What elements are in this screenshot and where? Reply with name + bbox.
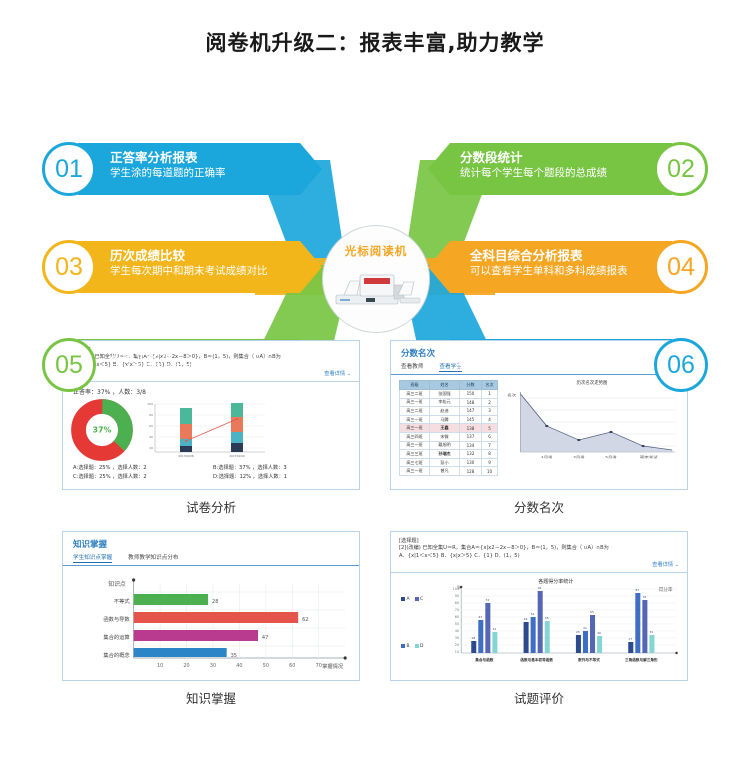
- feature-number-03: 03: [42, 240, 96, 294]
- feature-sub-03: 学生每次期中和期末考试成绩对比: [110, 264, 268, 279]
- svg-text:40: 40: [236, 663, 242, 669]
- svg-text:31: 31: [583, 626, 587, 630]
- question-line-2: [2](改编) 已知全集U＝R，集合A＝{x|x2－2x－8＞0}，B＝(1，5…: [399, 545, 679, 553]
- table-cell: 戴旭明: [430, 441, 460, 450]
- table-cell: 128: [460, 467, 482, 476]
- svg-text:55: 55: [590, 610, 594, 614]
- svg-text:10: 10: [157, 663, 163, 669]
- table-row[interactable]: 高三二班张国强1501: [400, 390, 498, 399]
- col-score: 分数: [460, 381, 482, 390]
- panel-shitipingjia: [选择题] [2](改编) 已知全集U＝R，集合A＝{x|x2－2x－8＞0}，…: [390, 531, 688, 681]
- feature-text-04: 全科目综合分析报表 可以查看学生单科和多科成绩报表: [470, 248, 628, 279]
- feature-text-06: 可以查看原始填涂答案报表 可以查看学生最开始填涂的答案是什么: [455, 346, 634, 377]
- table-cell: 曾凡: [430, 467, 460, 476]
- panel3-body: 知识点: [63, 566, 359, 678]
- table-row[interactable]: 高三四班宋微1376: [400, 432, 498, 441]
- table-cell: 彭小: [430, 458, 460, 467]
- feature-text-03: 历次成绩比较 学生每次期中和期末考试成绩对比: [110, 248, 268, 279]
- svg-text:30: 30: [210, 663, 216, 669]
- svg-text:30: 30: [598, 631, 602, 635]
- feature-diagram: 01 正答率分析报表 学生涂的每道题的正确率 02 分数段统计 统计每个学生每个…: [0, 65, 750, 340]
- svg-text:集合的运算: 集合的运算: [103, 633, 130, 641]
- report-screenshots: [选择题] [2](改编) 已知全集U＝R，集合A＝{x|x2－2x－8＞0}，…: [0, 340, 750, 716]
- swatch-a: [401, 597, 405, 601]
- svg-text:91: 91: [538, 586, 542, 590]
- svg-text:3月考: 3月考: [573, 455, 585, 459]
- svg-text:5月考: 5月考: [605, 455, 617, 459]
- svg-text:60: 60: [149, 424, 153, 428]
- feature-number-05: 05: [42, 338, 96, 392]
- score-rank-table: 班级 姓名 分数 名次 高三二班张国强1501高三一班李松元1482高三二班赵迪…: [399, 380, 498, 476]
- scanner-icon: [330, 265, 422, 311]
- table-row[interactable]: 高三一班曾凡12810: [400, 467, 498, 476]
- svg-text:44: 44: [524, 617, 528, 621]
- table-cell: 宋微: [430, 432, 460, 441]
- table-cell: 马腾: [430, 415, 460, 424]
- option-legend: A:选择题：25% ，选择人数：2 B:选择题：37% ，选择人数：3 C:选择…: [63, 462, 359, 480]
- table-cell: 孙瑞杰: [430, 450, 460, 459]
- svg-text:100: 100: [147, 402, 153, 406]
- svg-text:87: 87: [636, 588, 640, 592]
- panel-caption-shitipingjia: 试题评价: [390, 681, 688, 716]
- section-tabs-zhishizhangwo: 学生知识点掌握 教师教学知识点分布: [63, 553, 359, 566]
- table-cell: 2: [482, 398, 498, 407]
- swatch-d: [415, 644, 419, 648]
- legend-series-a: A: [401, 578, 410, 620]
- panel-caption-shijuanfenxi: 试卷分析: [62, 490, 360, 525]
- feature-title-05: 班级平均分: [110, 346, 257, 362]
- feature-number-02: 02: [654, 142, 708, 196]
- table-cell: 147: [460, 407, 482, 416]
- table-cell: 高三四班: [400, 432, 430, 441]
- legend-series-c: C: [415, 578, 424, 620]
- svg-text:1月考: 1月考: [541, 455, 553, 459]
- svg-text:函数与基本初等函数: 函数与基本初等函数: [521, 657, 554, 662]
- svg-text:50: 50: [455, 622, 459, 626]
- feature-text-01: 正答率分析报表 学生涂的每道题的正确率: [110, 150, 226, 181]
- feature-title-04: 全科目综合分析报表: [470, 248, 628, 264]
- table-cell: 高三一班: [400, 467, 430, 476]
- feature-number-06: 06: [654, 338, 708, 392]
- question-tag-2: [选择题]: [399, 538, 679, 545]
- legend-item-b: B:选择题：37% ，选择人数：3: [213, 464, 349, 471]
- swatch-c: [415, 597, 419, 601]
- panel4-body: A C B D 各题得分率统计: [391, 573, 687, 667]
- table-cell: 134: [460, 441, 482, 450]
- table-header-row: 班级 姓名 分数 名次: [400, 381, 498, 390]
- table-cell: 高三二班: [400, 390, 430, 399]
- svg-text:60: 60: [289, 663, 295, 669]
- table-cell: 高三三班: [400, 450, 430, 459]
- svg-text:31: 31: [493, 627, 497, 631]
- table-cell: 赵迪: [430, 407, 460, 416]
- svg-text:17: 17: [629, 637, 633, 641]
- legend-series-b: B: [401, 625, 410, 667]
- svg-text:100: 100: [453, 587, 460, 591]
- col-name: 姓名: [430, 381, 460, 390]
- table-cell: 132: [460, 450, 482, 459]
- donut-center-label: 37%: [92, 426, 111, 435]
- svg-text:90: 90: [455, 594, 459, 598]
- grouped-bar-chart-item-eval: 各题得分率统计 得分率 %: [435, 575, 683, 667]
- table-cell: 130: [460, 458, 482, 467]
- svg-text:集合与函数: 集合与函数: [475, 657, 495, 662]
- svg-text:76: 76: [643, 595, 647, 599]
- panel-caption-zhishizhangwo: 知识掌握: [62, 681, 360, 716]
- table-cell: 5: [482, 424, 498, 433]
- table-row[interactable]: 高三一班李松元1482: [400, 398, 498, 407]
- svg-text:20: 20: [455, 643, 459, 647]
- table-cell: 张国强: [430, 390, 460, 399]
- svg-text:不等式: 不等式: [114, 597, 130, 605]
- stacked-bar-chart: 100 80 60 40 20: [139, 398, 271, 462]
- table-row[interactable]: 高三三班孙瑞杰1328: [400, 450, 498, 459]
- table-cell: 4: [482, 415, 498, 424]
- legend-label-a: A: [407, 597, 410, 602]
- panel-caption-fenshumingci: 分数名次: [390, 490, 688, 525]
- horizontal-bar-chart-knowledge: 知识点: [69, 570, 353, 674]
- legend-label-b: B: [407, 644, 410, 649]
- legend-label-c: C: [420, 597, 423, 602]
- tab-teacher-knowledge[interactable]: 教师教学知识点分布: [128, 553, 178, 563]
- panel-wrap-zhishizhangwo: 知识掌握 学生知识点掌握 教师教学知识点分布 知识点: [62, 531, 360, 716]
- table-row[interactable]: 高三七班彭小1309: [400, 458, 498, 467]
- swatch-b: [401, 644, 405, 648]
- feature-sub-06: 可以查看学生最开始填涂的答案是什么: [455, 362, 634, 377]
- feature-sub-04: 可以查看学生单科和多科成绩报表: [470, 264, 628, 279]
- x-axis-title-knowledge: 掌握情况: [322, 662, 344, 670]
- table-cell: 145: [460, 415, 482, 424]
- center-label: 光标阅读机: [345, 243, 408, 259]
- section-head-zhishizhangwo: 知识掌握: [63, 532, 359, 553]
- feature-title-06: 可以查看原始填涂答案报表: [455, 346, 634, 362]
- feature-sub-01: 学生涂的每道题的正确率: [110, 166, 226, 181]
- table-row[interactable]: 高三二班赵迪1473: [400, 407, 498, 416]
- svg-text:35: 35: [231, 653, 237, 659]
- page-title: 阅卷机升级二：报表丰富,助力教学: [0, 0, 750, 57]
- feature-sub-05: 可以看出各个班级平均分是多少: [110, 362, 257, 377]
- svg-text:25: 25: [576, 630, 580, 634]
- svg-text:31: 31: [650, 630, 654, 634]
- feature-number-04: 04: [654, 240, 708, 294]
- table-cell: 148: [460, 398, 482, 407]
- table-cell: 王鑫: [430, 424, 460, 433]
- svg-text:18: 18: [472, 636, 476, 640]
- feature-sub-02: 统计每个学生每个题段的总成绩: [460, 166, 607, 181]
- svg-text:数列与不等式: 数列与不等式: [578, 657, 601, 662]
- chart-note-item-eval: 得分率: [659, 586, 673, 593]
- table-cell: 高三二班: [400, 407, 430, 416]
- y-axis-label-rank: 名次: [507, 393, 516, 397]
- svg-text:三角函数与解三角形: 三角函数与解三角形: [625, 657, 658, 662]
- svg-text:72: 72: [486, 598, 490, 602]
- svg-text:45: 45: [545, 616, 549, 620]
- svg-text:50: 50: [263, 663, 269, 669]
- area-chart-rank-trend: 名次 1月考 3月考 5月考 期末考试: [503, 386, 681, 464]
- svg-text:40: 40: [455, 629, 459, 633]
- series-legend: A C B D: [395, 575, 435, 667]
- donut-chart-correct-rate: 37%: [71, 399, 133, 461]
- question-options-2: A．{x|1＜x＜5} B．{x|x＞5} C．{1} D．(1，5): [399, 553, 679, 561]
- table-cell: 7: [482, 441, 498, 450]
- svg-text:10: 10: [455, 650, 459, 654]
- table-cell: 李松元: [430, 398, 460, 407]
- panel-zhishizhangwo: 知识掌握 学生知识点掌握 教师教学知识点分布 知识点: [62, 531, 360, 681]
- table-cell: 1: [482, 390, 498, 399]
- chart-title-item-eval: 各题得分率统计: [539, 578, 574, 585]
- table-row[interactable]: 高三一班王鑫1385: [400, 424, 498, 433]
- svg-text:51: 51: [531, 612, 535, 616]
- table-cell: 6: [482, 432, 498, 441]
- svg-text:60: 60: [455, 615, 459, 619]
- table-cell: 高三一班: [400, 424, 430, 433]
- legend-label-d: D: [420, 644, 423, 649]
- tab-view-teacher[interactable]: 查看教师: [401, 362, 423, 372]
- view-detail-link-2[interactable]: 查看详情 ⌄: [399, 561, 679, 568]
- svg-text:40: 40: [149, 435, 153, 439]
- svg-text:30: 30: [455, 636, 459, 640]
- table-row[interactable]: 高三一班马腾1454: [400, 415, 498, 424]
- svg-text:函数与导数: 函数与导数: [103, 615, 130, 623]
- svg-text:集合的概念: 集合的概念: [103, 651, 130, 659]
- legend-item-a: A:选择题：25% ，选择人数：2: [73, 464, 209, 471]
- svg-text:20: 20: [183, 663, 189, 669]
- svg-text:80: 80: [149, 413, 153, 417]
- feature-title-03: 历次成绩比较: [110, 248, 268, 264]
- table-cell: 150: [460, 390, 482, 399]
- rank-trend-wrap: 历次名次走势图: [503, 380, 681, 476]
- svg-text:2017/01/08: 2017/01/08: [179, 454, 194, 458]
- svg-text:47: 47: [262, 635, 268, 641]
- table-cell: 高三一班: [400, 398, 430, 407]
- col-rank: 名次: [482, 381, 498, 390]
- svg-text:2017/01/09: 2017/01/09: [230, 454, 245, 458]
- svg-text:70: 70: [455, 608, 459, 612]
- y-axis-title-knowledge: 知识点: [108, 580, 126, 588]
- panel-wrap-shitipingjia: [选择题] [2](改编) 已知全集U＝R，集合A＝{x|x2－2x－8＞0}，…: [390, 531, 688, 716]
- legend-item-c: C:选择题：25% ，选择人数：2: [73, 473, 209, 480]
- legend-item-d: D:选择题：12% ，选择人数：1: [213, 473, 349, 480]
- tab-student-knowledge[interactable]: 学生知识点掌握: [73, 553, 112, 563]
- correct-rate-stat: 正答率：37% ，人数：3/8: [63, 382, 359, 396]
- panel2-body: 班级 姓名 分数 名次 高三二班张国强1501高三一班李松元1482高三二班赵迪…: [391, 375, 687, 476]
- table-cell: 高三一班: [400, 415, 430, 424]
- feature-text-02: 分数段统计 统计每个学生每个题段的总成绩: [460, 150, 607, 181]
- svg-text:期末考试: 期末考试: [640, 455, 658, 459]
- table-cell: 8: [482, 450, 498, 459]
- svg-text:28: 28: [212, 599, 218, 605]
- table-row[interactable]: 高三一班戴旭明1347: [400, 441, 498, 450]
- col-class: 班级: [400, 381, 430, 390]
- feature-text-05: 班级平均分 可以看出各个班级平均分是多少: [110, 346, 257, 377]
- feature-number-01: 01: [42, 142, 96, 196]
- svg-text:70: 70: [316, 663, 322, 669]
- feature-title-01: 正答率分析报表: [110, 150, 226, 166]
- svg-text:20: 20: [149, 446, 153, 450]
- table-cell: 138: [460, 424, 482, 433]
- legend-series-d: D: [415, 625, 424, 667]
- table-cell: 137: [460, 432, 482, 441]
- svg-text:62: 62: [302, 617, 308, 623]
- table-cell: 9: [482, 458, 498, 467]
- table-cell: 高三一班: [400, 441, 430, 450]
- panel1-charts: 37% 100 80 60: [63, 396, 359, 462]
- svg-text:47: 47: [479, 615, 483, 619]
- feature-title-02: 分数段统计: [460, 150, 607, 166]
- table-cell: 高三七班: [400, 458, 430, 467]
- table-cell: 3: [482, 407, 498, 416]
- question-block-2: [选择题] [2](改编) 已知全集U＝R，集合A＝{x|x2－2x－8＞0}，…: [391, 532, 687, 573]
- table-cell: 10: [482, 467, 498, 476]
- svg-text:80: 80: [455, 601, 459, 605]
- center-hub: 光标阅读机: [322, 225, 430, 333]
